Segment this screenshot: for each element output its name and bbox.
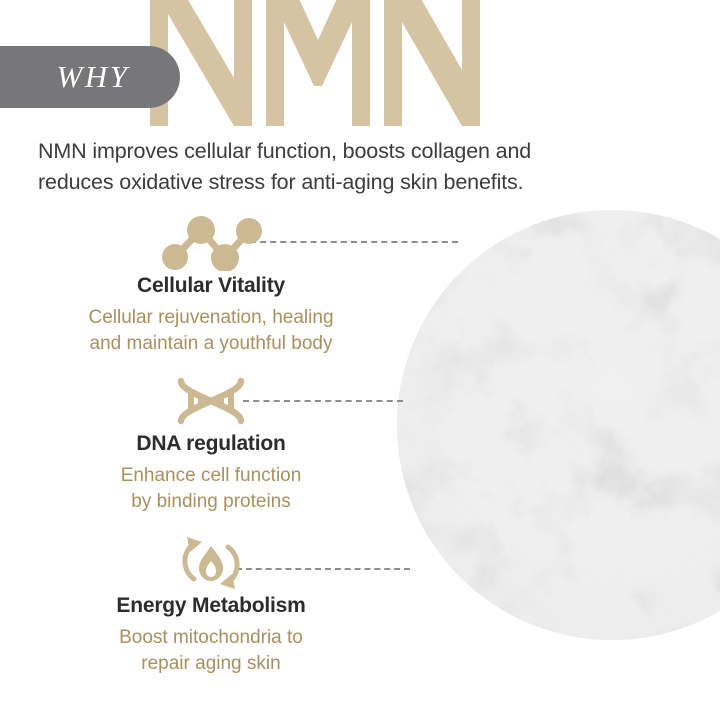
- feature-title: DNA regulation: [46, 432, 376, 456]
- why-badge: WHY: [0, 46, 180, 108]
- energy-flame-cycle-icon: [46, 534, 376, 592]
- feature-desc-line-2: repair aging skin: [46, 651, 376, 677]
- powder-circle-image: [397, 210, 720, 640]
- intro-line-2: reduces oxidative stress for anti-aging …: [38, 167, 688, 198]
- feature-desc-line-1: Cellular rejuvenation, healing: [46, 305, 376, 331]
- feature-desc-line-1: Boost mitochondria to: [46, 625, 376, 651]
- intro-paragraph: NMN improves cellular function, boosts c…: [38, 136, 688, 198]
- feature-description: Boost mitochondria to repair aging skin: [46, 625, 376, 677]
- feature-desc-line-2: and maintain a youthful body: [46, 331, 376, 357]
- feature-desc-line-2: by binding proteins: [46, 489, 376, 515]
- feature-title: Energy Metabolism: [46, 594, 376, 618]
- feature-desc-line-1: Enhance cell function: [46, 463, 376, 489]
- infographic-canvas: WHY NMN improves cellular function, boos…: [0, 0, 720, 720]
- intro-line-1: NMN improves cellular function, boosts c…: [38, 136, 688, 167]
- why-badge-label: WHY: [51, 59, 130, 95]
- molecule-icon: [46, 214, 376, 272]
- feature-title: Cellular Vitality: [46, 274, 376, 298]
- feature-description: Enhance cell function by binding protein…: [46, 463, 376, 515]
- feature-description: Cellular rejuvenation, healing and maint…: [46, 305, 376, 357]
- nmn-wordmark: [150, 0, 480, 126]
- feature-energy-metabolism: Energy Metabolism Boost mitochondria to …: [46, 534, 376, 677]
- feature-dna-regulation: DNA regulation Enhance cell function by …: [46, 372, 376, 515]
- feature-cellular-vitality: Cellular Vitality Cellular rejuvenation,…: [46, 214, 376, 357]
- dna-helix-icon: [46, 372, 376, 430]
